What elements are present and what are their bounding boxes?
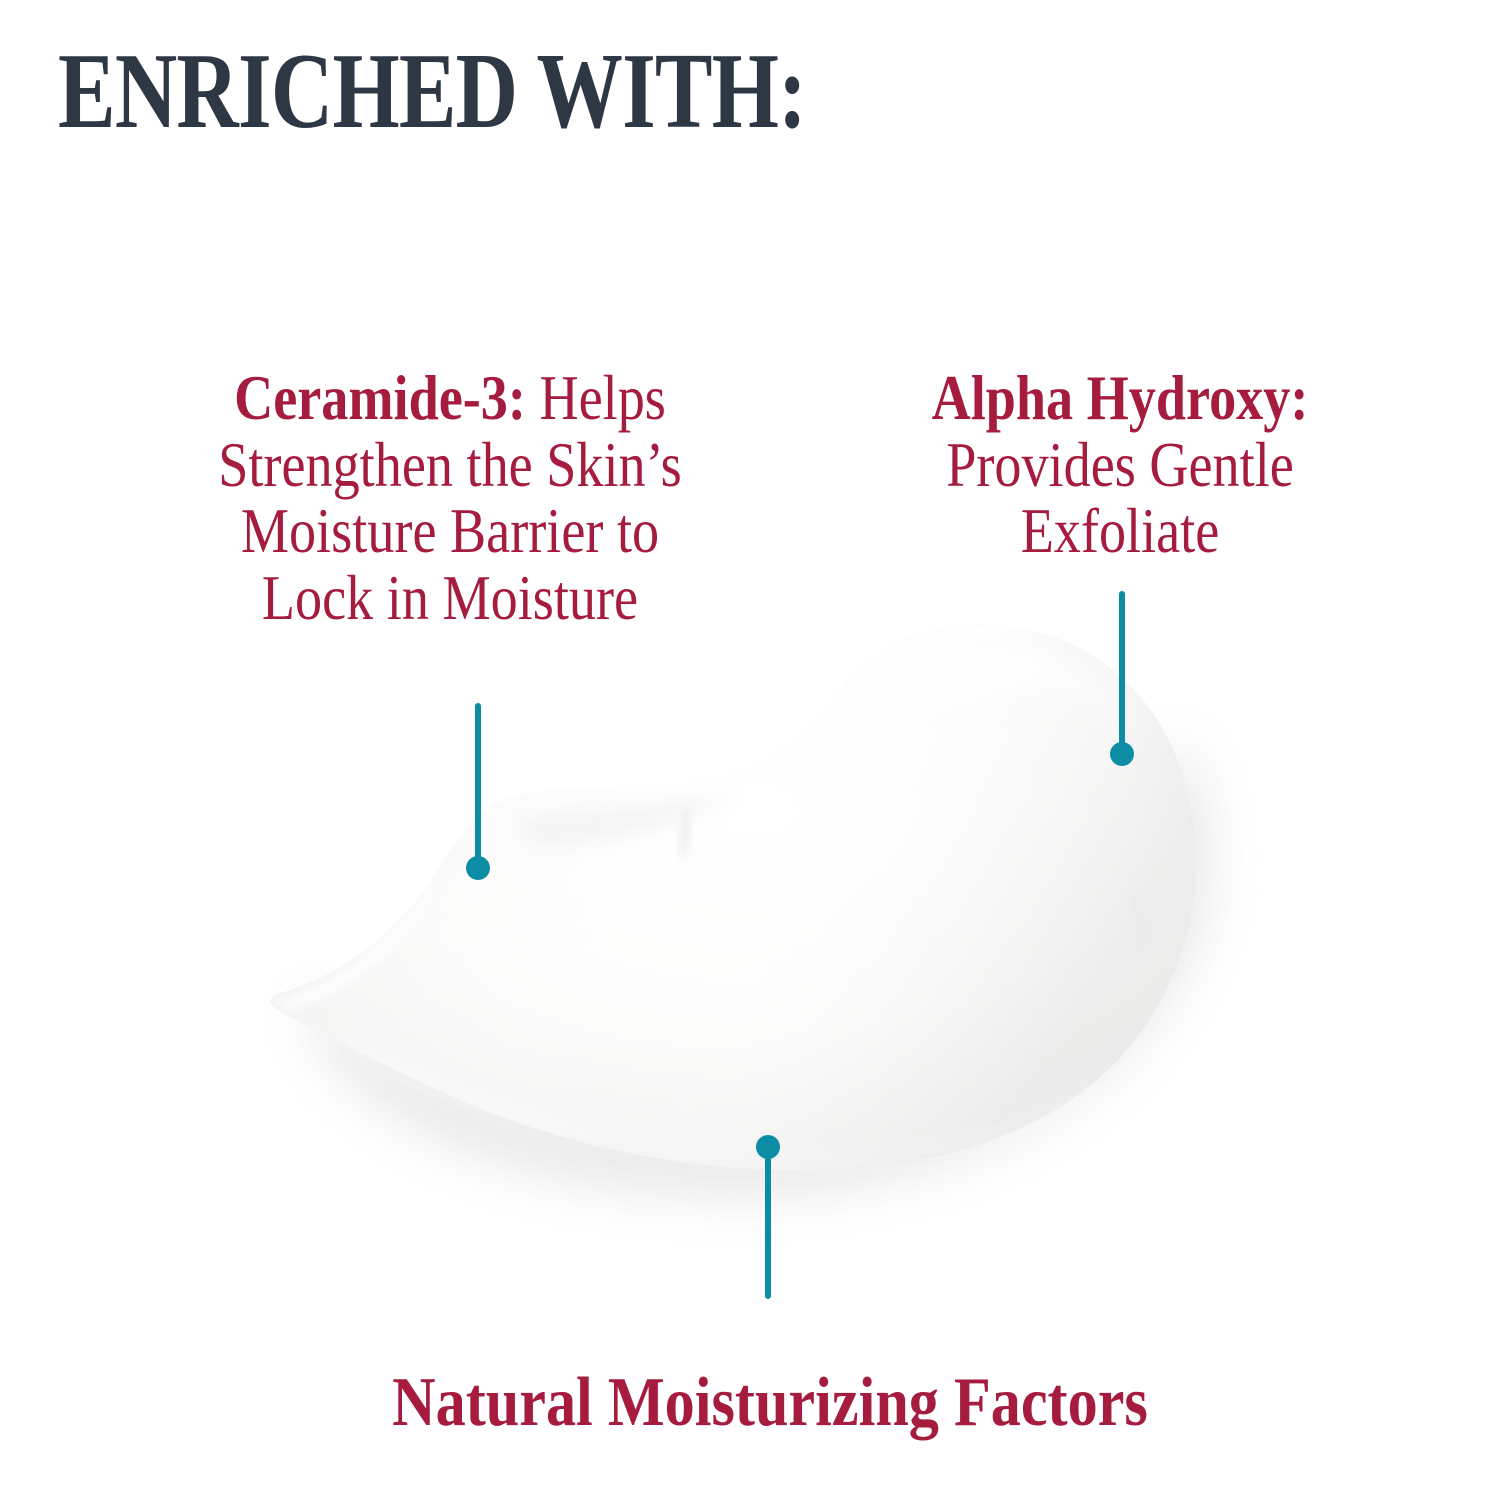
connector-line-ceramide — [466, 706, 490, 880]
connector-line-alpha-hydroxy — [1110, 594, 1134, 766]
callout-ceramide-3-lead: Ceramide-3: — [234, 363, 526, 433]
callout-ceramide-3: Ceramide-3: Helps Strengthen the Skin’s … — [97, 298, 802, 632]
callout-connectors — [0, 0, 1500, 1500]
callout-alpha-hydroxy: Alpha Hydroxy: Provides Gentle Exfoliate — [862, 298, 1378, 565]
callout-natural-moisturizing-factors-lead: Natural Moisturizing Factors — [392, 1364, 1148, 1441]
connector-line-natural-moisturizing-factors — [756, 1135, 780, 1296]
callout-alpha-hydroxy-body: Provides Gentle Exfoliate — [946, 430, 1294, 567]
callout-alpha-hydroxy-lead: Alpha Hydroxy: — [932, 363, 1309, 433]
infographic-page: ENRICHED WITH: — [0, 0, 1500, 1500]
callout-natural-moisturizing-factors: Natural Moisturizing Factors — [306, 1292, 1235, 1440]
